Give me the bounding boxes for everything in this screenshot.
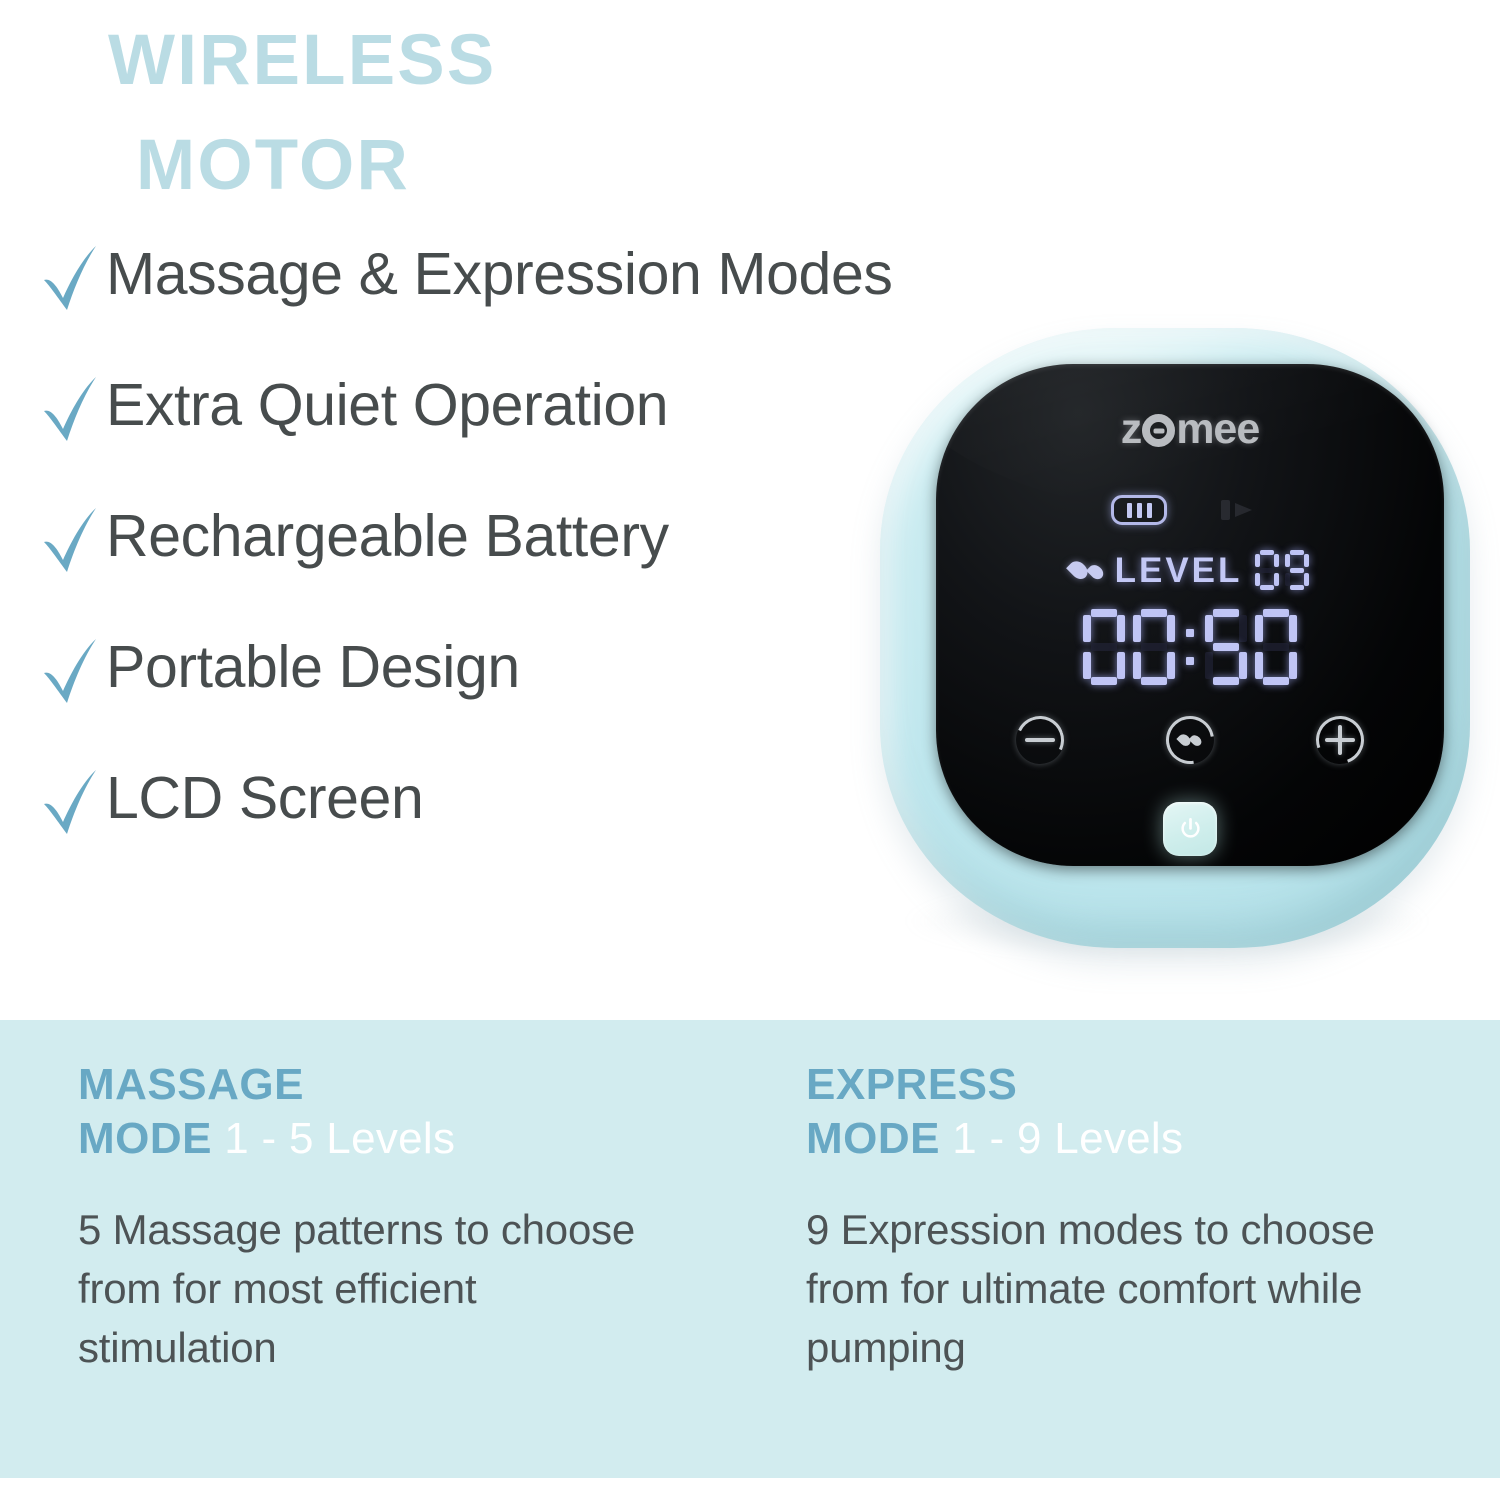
minus-button[interactable] [1016,716,1064,764]
check-icon [38,635,104,707]
timer-colon [1183,609,1197,685]
feature-label: Rechargeable Battery [106,500,669,572]
massage-levels-value: 1 - 5 Levels [224,1114,455,1163]
power-icon [1177,816,1204,843]
title-line-2: MOTOR [108,113,728,218]
power-button[interactable] [1163,802,1217,856]
level-label: LEVEL [1115,553,1243,588]
express-mode-description: 9 Expression modes to choose from for ul… [806,1201,1466,1377]
brand-logo-o-glyph [1142,414,1175,447]
list-item: Massage & Expression Modes [38,238,868,369]
mode-button[interactable] [1166,716,1214,764]
list-item: Extra Quiet Operation [38,369,868,500]
mode-drop-icon [1180,734,1201,747]
express-mode-column: EXPRESS MODE 1 - 9 Levels 9 Expression m… [806,1058,1446,1378]
brand-logo-prefix: z [1121,405,1142,453]
list-item: Rechargeable Battery [38,500,868,631]
feature-label: Extra Quiet Operation [106,369,668,441]
express-mode-levels-line: MODE 1 - 9 Levels [806,1112,1446,1166]
mode-word: MODE [78,1114,212,1163]
check-icon [38,504,104,576]
water-drop-icon [1071,560,1102,580]
device-housing: zmee LEVEL [880,328,1470,948]
breast-pump-device: zmee LEVEL [866,322,1484,974]
level-value [1255,550,1309,590]
feature-checklist: Massage & Expression Modes Extra Quiet O… [38,238,868,893]
check-icon [38,242,104,314]
modes-section: MASSAGE MODE 1 - 5 Levels 5 Massage patt… [0,1020,1500,1478]
massage-mode-description: 5 Massage patterns to choose from for mo… [78,1201,678,1377]
feature-label: Massage & Expression Modes [106,238,892,310]
lcd-level-row: LEVEL [936,550,1444,590]
feature-label: Portable Design [106,631,520,703]
express-mode-kicker: EXPRESS [806,1058,1446,1112]
page-title: WIRELESS MOTOR [108,8,728,218]
list-item: Portable Design [38,631,868,762]
massage-mode-column: MASSAGE MODE 1 - 5 Levels 5 Massage patt… [78,1058,718,1378]
brand-logo-suffix: mee [1176,405,1259,453]
feature-label: LCD Screen [106,762,423,834]
feature-highlights-section: WIRELESS MOTOR Massage & Expression Mode… [0,0,1500,1020]
plug-icon [1219,496,1269,524]
lcd-status-row [936,495,1444,525]
plus-button[interactable] [1316,716,1364,764]
massage-mode-kicker: MASSAGE [78,1058,718,1112]
check-icon [38,766,104,838]
massage-mode-levels-line: MODE 1 - 5 Levels [78,1112,718,1166]
check-icon [38,373,104,445]
title-line-1: WIRELESS [108,8,728,113]
express-levels-value: 1 - 9 Levels [952,1114,1183,1163]
device-control-row [936,716,1444,764]
brand-logo: zmee [936,408,1444,451]
list-item: LCD Screen [38,762,868,893]
lcd-timer [936,609,1444,685]
device-front-panel: zmee LEVEL [936,364,1444,866]
mode-word: MODE [806,1114,940,1163]
battery-icon [1111,495,1167,525]
